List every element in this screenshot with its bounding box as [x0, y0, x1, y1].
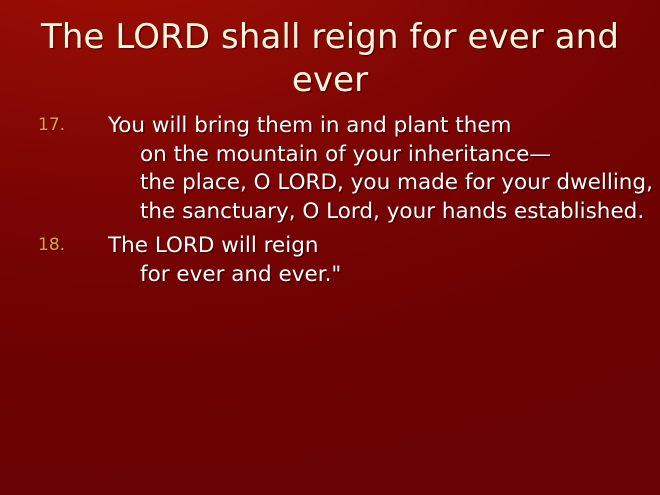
- verse-line: You will bring them in and plant them: [84, 112, 660, 141]
- verse-line: on the mountain of your inheritance—: [84, 141, 660, 170]
- verse-number: 18.: [38, 235, 65, 256]
- verse-line: the place, O LORD, you made for your dwe…: [84, 169, 660, 198]
- verse-text: You will bring them in and plant them on…: [84, 112, 660, 226]
- presentation-slide: The LORD shall reign for ever and ever 1…: [0, 0, 660, 495]
- verse-item: 18. The LORD will reign for ever and eve…: [0, 232, 660, 289]
- verse-line: The LORD will reign: [84, 232, 660, 261]
- slide-title-line-1: The LORD shall reign for ever and: [0, 16, 660, 59]
- verse-item: 17. You will bring them in and plant the…: [0, 112, 660, 226]
- verse-line: for ever and ever.": [84, 261, 660, 290]
- verse-number: 17.: [38, 115, 65, 136]
- verse-line: the sanctuary, O Lord, your hands establ…: [84, 198, 660, 227]
- slide-body: 17. You will bring them in and plant the…: [0, 112, 660, 295]
- slide-title: The LORD shall reign for ever and ever: [0, 16, 660, 102]
- verse-text: The LORD will reign for ever and ever.": [84, 232, 660, 289]
- slide-title-line-2: ever: [0, 59, 660, 102]
